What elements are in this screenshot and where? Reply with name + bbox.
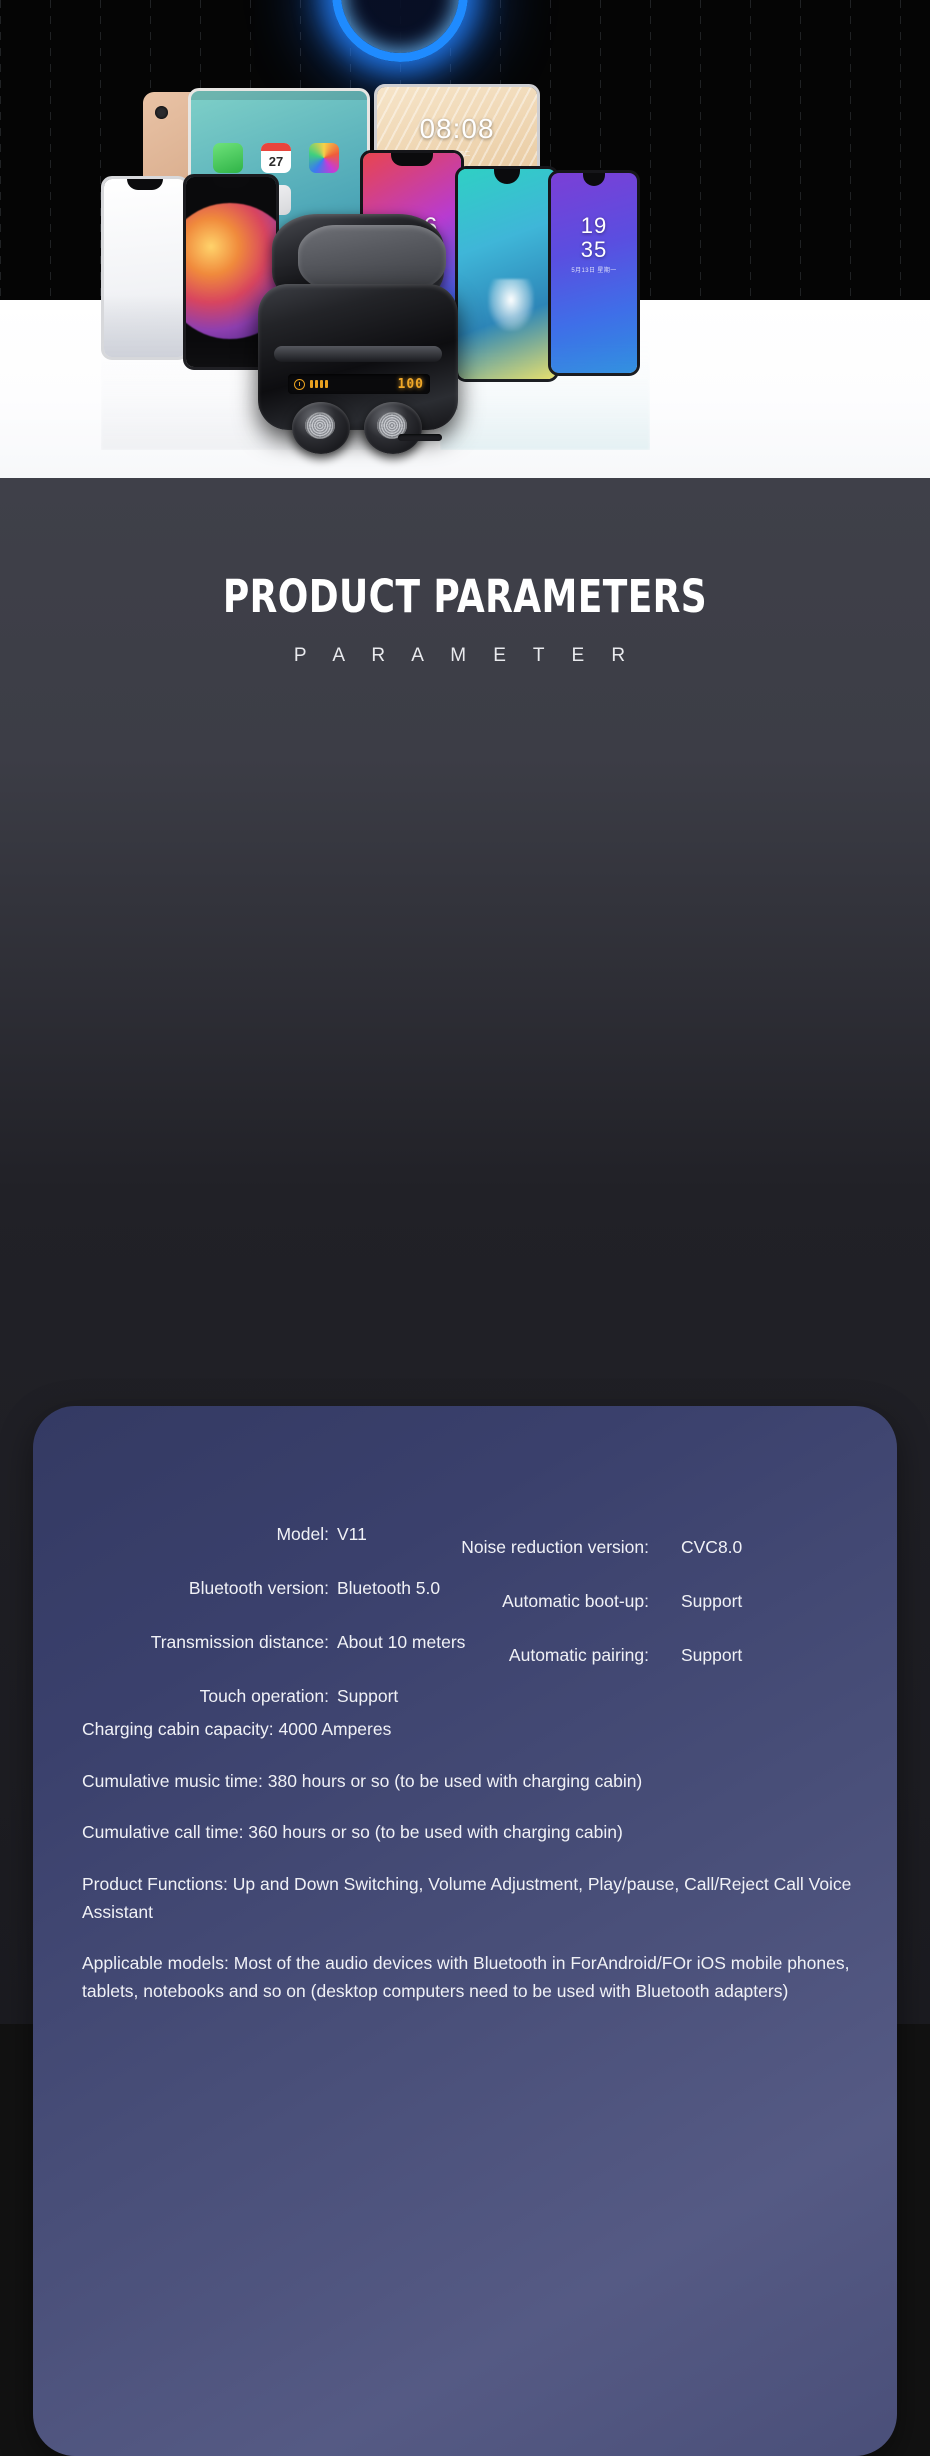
spec-label: Automatic boot-up:: [363, 1591, 649, 1612]
earbud-left: [292, 402, 350, 454]
case-usb-slot: [398, 434, 442, 441]
phone-waterdrop-notch: [494, 169, 520, 184]
phone-lockscreen-hour: 19: [551, 213, 637, 239]
section-header: PRODUCT PARAMETERS P A R A M E T E R: [0, 478, 930, 667]
iphone-notch: [212, 177, 250, 188]
app-icon-calendar[interactable]: 27: [261, 143, 291, 173]
phone-waterdrop-notch: [583, 173, 605, 186]
note-charging-capacity: Charging cabin capacity: 4000 Amperes: [82, 1716, 862, 1744]
case-hinge: [274, 346, 442, 362]
product-parameters-section: PRODUCT PARAMETERS P A R A M E T E R Mod…: [0, 478, 930, 2024]
specs-panel: Model: V11 Bluetooth version: Bluetooth …: [33, 1406, 897, 2456]
case-lid-inner: [298, 225, 446, 291]
note-applicable-models: Applicable models: Most of the audio dev…: [82, 1950, 862, 2005]
led-battery-digits: 100: [398, 377, 424, 392]
page-title: PRODUCT PARAMETERS: [93, 570, 837, 623]
spec-label: Transmission distance:: [33, 1632, 329, 1653]
page-subtitle: P A R A M E T E R: [0, 645, 930, 667]
app-icon-photos[interactable]: [309, 143, 339, 173]
device-reflection-right: [440, 300, 650, 450]
spec-row: Touch operation: Support: [33, 1686, 481, 1707]
spec-row: Noise reduction version: CVC8.0: [363, 1537, 897, 1558]
tablet-camera-icon: [155, 106, 168, 119]
clock-icon: [294, 379, 305, 390]
charging-case: 100: [258, 214, 458, 430]
spec-value: Support: [681, 1591, 742, 1612]
spec-column-right: Noise reduction version: CVC8.0 Automati…: [363, 1537, 897, 1666]
spec-label: Bluetooth version:: [33, 1578, 329, 1599]
spec-value: Support: [337, 1686, 398, 1707]
case-led-display: 100: [288, 374, 430, 394]
phone-notch: [391, 153, 433, 166]
spec-label: Automatic pairing:: [363, 1645, 649, 1666]
notes-list: Charging cabin capacity: 4000 Amperes Cu…: [82, 1716, 862, 2005]
tablet-lockscreen-time: 08:08: [377, 113, 537, 145]
spec-value: Support: [681, 1645, 742, 1666]
iphone-notch: [127, 179, 163, 190]
battery-bars-icon: [310, 380, 328, 388]
phone-lockscreen-date: 5月13日 星期一: [551, 265, 637, 274]
spec-label: Touch operation:: [33, 1686, 329, 1707]
case-body: 100: [258, 284, 458, 430]
earbud-right: [364, 402, 422, 454]
ipad-statusbar: [191, 91, 367, 100]
note-call-time: Cumulative call time: 360 hours or so (t…: [82, 1819, 862, 1847]
hero-product-image: 27 08:08 日月 周二 8:16: [0, 0, 930, 478]
spec-label: Model:: [33, 1524, 329, 1545]
spec-row: Automatic boot-up: Support: [363, 1591, 897, 1612]
note-music-time: Cumulative music time: 380 hours or so (…: [82, 1768, 862, 1796]
spec-value: CVC8.0: [681, 1537, 742, 1558]
app-icon-facetime[interactable]: [213, 143, 243, 173]
spec-row: Automatic pairing: Support: [363, 1645, 897, 1666]
phone-lockscreen-minute: 35: [551, 237, 637, 263]
spec-label: Noise reduction version:: [363, 1537, 649, 1558]
note-product-functions: Product Functions: Up and Down Switching…: [82, 1871, 862, 1926]
